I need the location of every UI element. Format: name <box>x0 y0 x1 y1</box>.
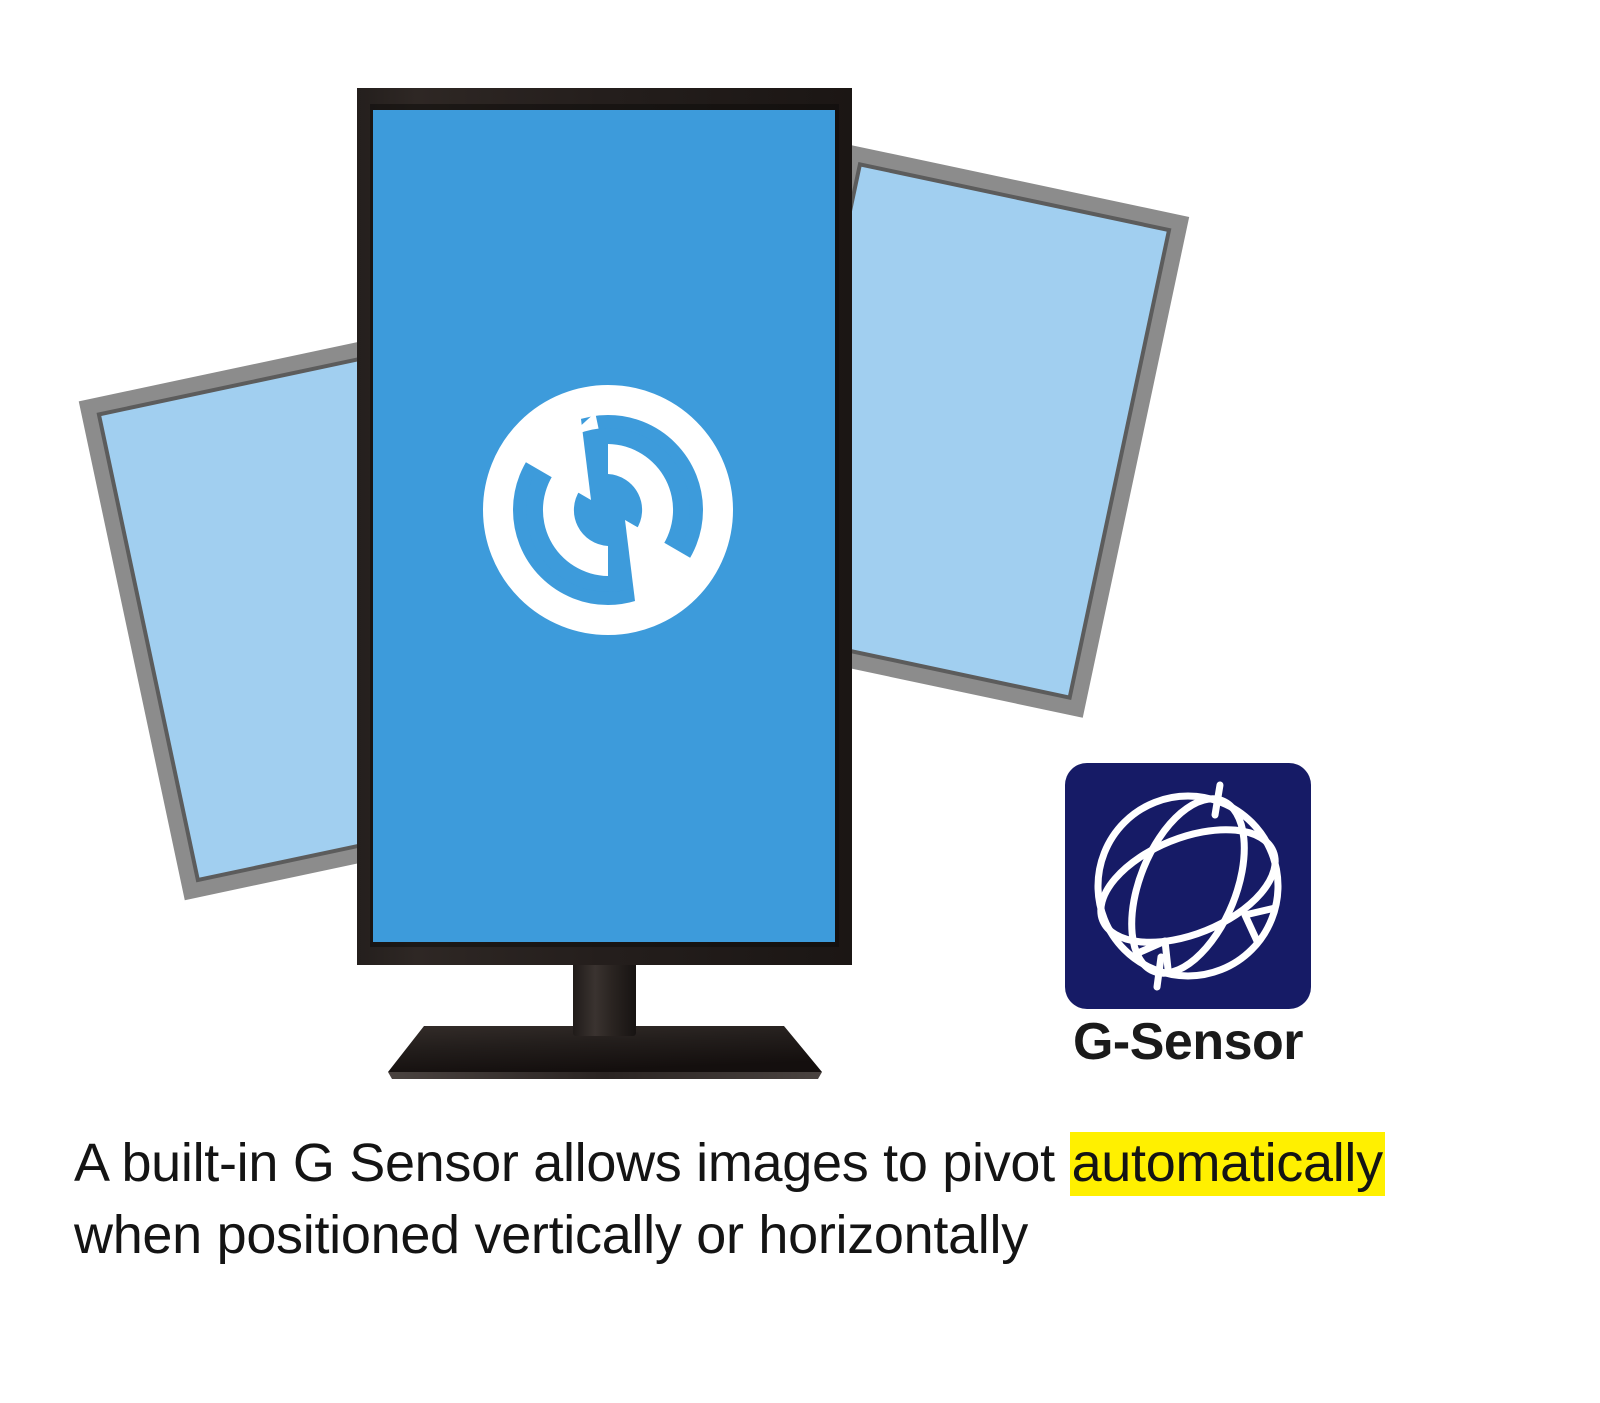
monitor-neck <box>573 960 636 1036</box>
illustration-page: G-Sensor A built-in G Sensor allows imag… <box>0 0 1600 1403</box>
gsensor-label: G-Sensor <box>1063 1015 1313 1070</box>
monitor-illustration <box>0 0 1600 1110</box>
gsensor-badge <box>1065 763 1311 1009</box>
caption-line-1-text: A built-in G Sensor allows images to piv… <box>74 1133 1070 1193</box>
gyroscope-orbit-icon <box>1065 763 1311 1009</box>
rotate-refresh-icon <box>498 400 718 620</box>
caption-text: A built-in G Sensor allows images to piv… <box>74 1128 1544 1272</box>
gsensor-block: G-Sensor <box>1063 763 1313 1070</box>
caption-highlight: automatically <box>1070 1132 1385 1196</box>
caption-line-1: A built-in G Sensor allows images to piv… <box>74 1128 1544 1200</box>
caption-line-2: when positioned vertically or horizontal… <box>74 1200 1544 1272</box>
